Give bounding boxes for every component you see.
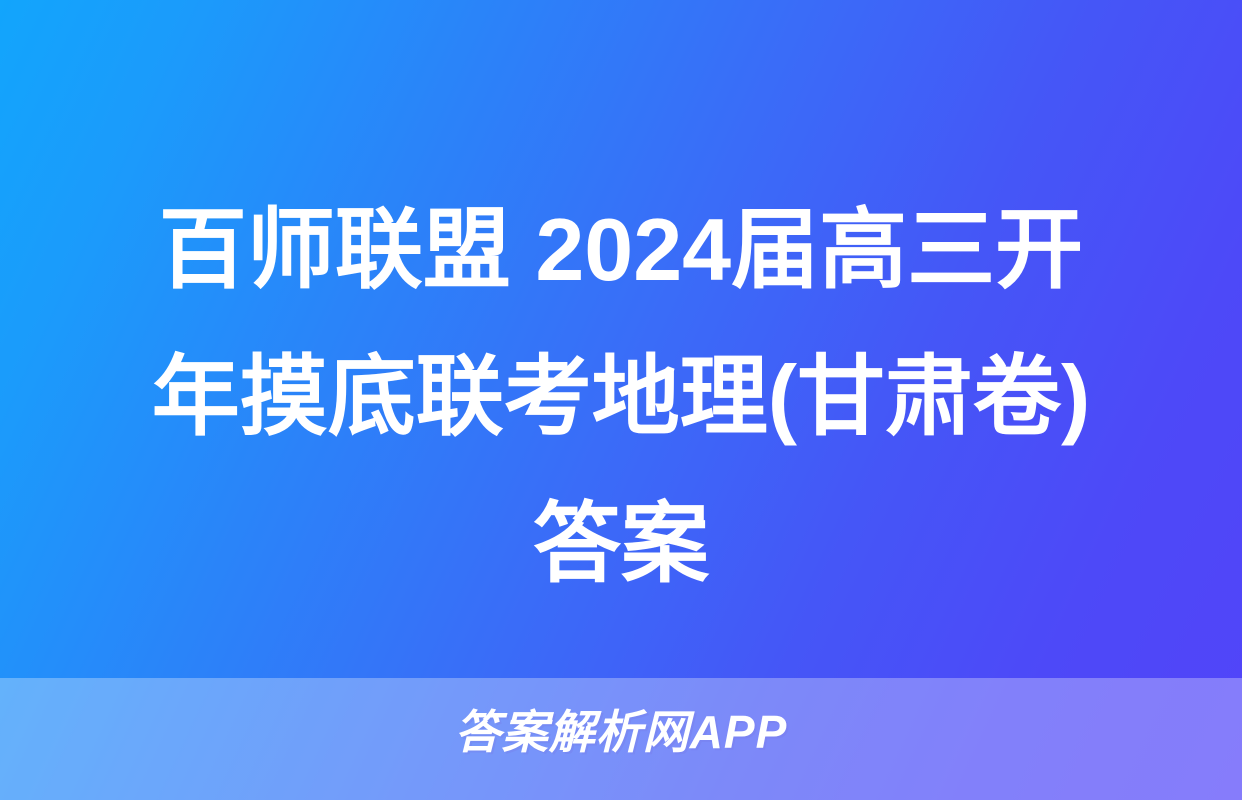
title-line-2: 年摸底联考地理(甘肃卷)	[80, 323, 1162, 470]
title-line-1: 百师联盟 2024届高三开	[80, 176, 1162, 323]
watermark-app-name: 答案解析网APP	[0, 706, 1242, 758]
page-title: 百师联盟 2024届高三开 年摸底联考地理(甘肃卷) 答案	[0, 176, 1242, 617]
title-line-3: 答案	[80, 470, 1162, 617]
poster-canvas: 百师联盟 2024届高三开 年摸底联考地理(甘肃卷) 答案 答案解析网APP	[0, 0, 1242, 800]
